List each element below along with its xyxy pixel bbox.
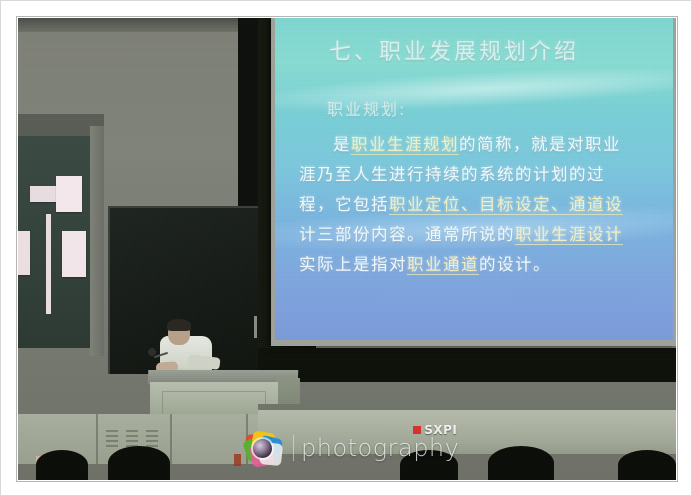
cabinet-seam — [170, 414, 172, 464]
slide-line-3-highlight: 职业定位、目标设定、通道设 — [389, 195, 623, 215]
cabinet-vent — [126, 435, 138, 437]
audience-head — [488, 446, 554, 480]
cabinet-vent — [126, 430, 138, 432]
slide-line-5: 实际上是指对职业通道的设计。 — [299, 250, 673, 280]
slide-line-1-highlight: 职业生涯规划 — [351, 135, 459, 155]
slide-line-1-part-b: 的简称，就是对职业 — [459, 135, 621, 154]
blackboard-lower-band — [258, 348, 676, 382]
slide-line-4: 计三部份内容。通常所说的职业生涯设计 — [299, 220, 673, 250]
slide-subtitle: 职业规划: — [327, 96, 406, 120]
wall-notice — [62, 231, 86, 277]
audience-head — [36, 450, 88, 480]
chalk-mark — [254, 316, 257, 338]
brand-mark-icon — [413, 426, 421, 434]
audience-head — [108, 446, 170, 480]
slide-line-2: 涯乃至人生进行持续的系统的计划的过 — [299, 160, 673, 190]
cabinet-seam — [96, 414, 98, 464]
red-object — [234, 454, 241, 466]
door-jamb — [90, 126, 104, 356]
photo-frame: 七、职业发展规划介绍 职业规划: 是职业生涯规划的简称，就是对职业 涯乃至人生进… — [0, 0, 692, 496]
watermark-text-group: photography SXPI — [301, 436, 459, 460]
photograph: 七、职业发展规划介绍 职业规划: 是职业生涯规划的简称，就是对职业 涯乃至人生进… — [18, 18, 676, 480]
wall-notice — [18, 231, 30, 275]
slide-line-5-part-a: 实际上是指对 — [299, 255, 407, 274]
watermark-divider — [293, 435, 294, 461]
wall-notice — [56, 176, 82, 212]
slide-line-1-part-a: 是 — [333, 135, 351, 154]
speaker-hair — [167, 319, 191, 331]
slide-line-3-part-a: 程，它包括 — [299, 195, 389, 214]
projection-screen: 七、职业发展规划介绍 职业规划: 是职业生涯规划的简称，就是对职业 涯乃至人生进… — [275, 18, 673, 340]
slide-body: 是职业生涯规划的简称，就是对职业 涯乃至人生进行持续的系统的计划的过 程，它包括… — [299, 130, 673, 280]
cabinet-vent — [146, 435, 158, 437]
slide-content: 七、职业发展规划介绍 职业规划: 是职业生涯规划的简称，就是对职业 涯乃至人生进… — [275, 18, 673, 340]
watermark: photography SXPI — [244, 426, 424, 470]
cabinet-vent — [146, 440, 158, 442]
audience-head — [618, 450, 676, 480]
watermark-word: photography — [301, 436, 459, 460]
slide-line-3: 程，它包括职业定位、目标设定、通道设 — [299, 190, 673, 220]
slide-line-5-part-b: 的设计。 — [479, 255, 551, 274]
camera-aperture-icon — [244, 431, 284, 465]
wall-notice-strip — [46, 214, 51, 314]
cabinet-vent — [126, 440, 138, 442]
slide-title: 七、职业发展规划介绍 — [329, 34, 579, 66]
watermark-brand: SXPI — [413, 423, 457, 437]
microphone-head — [148, 348, 156, 356]
slide-line-4-part-a: 计三部份内容。通常所说的 — [299, 225, 515, 244]
cabinet-vent — [106, 440, 118, 442]
slide-line-4-highlight: 职业生涯设计 — [515, 225, 623, 245]
watermark-brand-text: SXPI — [424, 423, 457, 437]
cabinet-vent — [106, 430, 118, 432]
cabinet-vent — [146, 430, 158, 432]
cabinet-vent — [106, 445, 118, 447]
slide-line-1: 是职业生涯规划的简称，就是对职业 — [299, 130, 673, 160]
cabinet-vent — [106, 435, 118, 437]
slide-line-5-highlight: 职业通道 — [407, 255, 479, 275]
